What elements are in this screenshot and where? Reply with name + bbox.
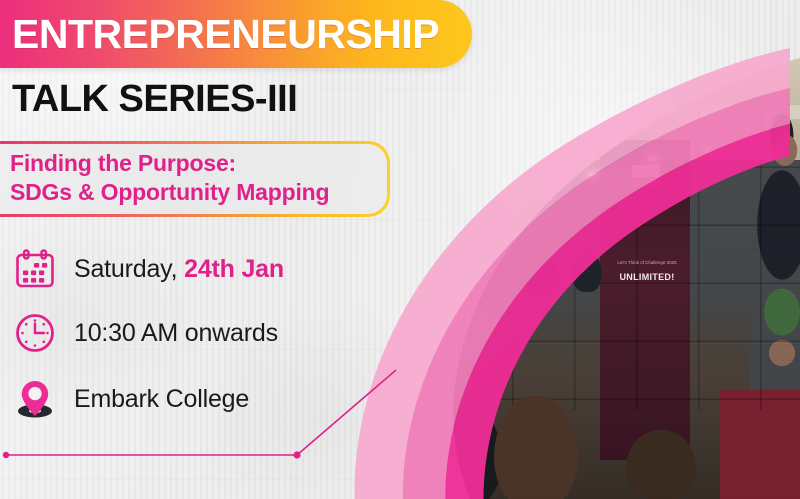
subtitle-box: Finding the Purpose: SDGs & Opportunity … xyxy=(0,141,390,217)
date-text: Saturday, 24th Jan xyxy=(74,255,284,284)
subtitle-line-1: Finding the Purpose: xyxy=(10,150,236,177)
title-banner: ENTREPRENEURSHIP xyxy=(0,0,472,68)
time-row: 10:30 AM onwards xyxy=(14,312,278,354)
series-heading: TALK SERIES-III xyxy=(12,75,297,123)
date-value: 24th Jan xyxy=(184,255,284,283)
clock-icon xyxy=(14,312,56,354)
poster-canvas: Let's Think of Challenge 2025 UNLIMITED! xyxy=(0,0,800,499)
subtitle-line-2: SDGs & Opportunity Mapping xyxy=(10,179,329,206)
calendar-icon xyxy=(14,248,56,290)
time-text: 10:30 AM onwards xyxy=(74,319,278,348)
page-title: ENTREPRENEURSHIP xyxy=(12,9,439,59)
date-row: Saturday, 24th Jan xyxy=(14,248,284,290)
venue-text: Embark College xyxy=(74,385,249,414)
date-weekday: Saturday, xyxy=(74,255,184,283)
location-pin-icon xyxy=(14,378,56,420)
venue-row: Embark College xyxy=(14,378,249,420)
